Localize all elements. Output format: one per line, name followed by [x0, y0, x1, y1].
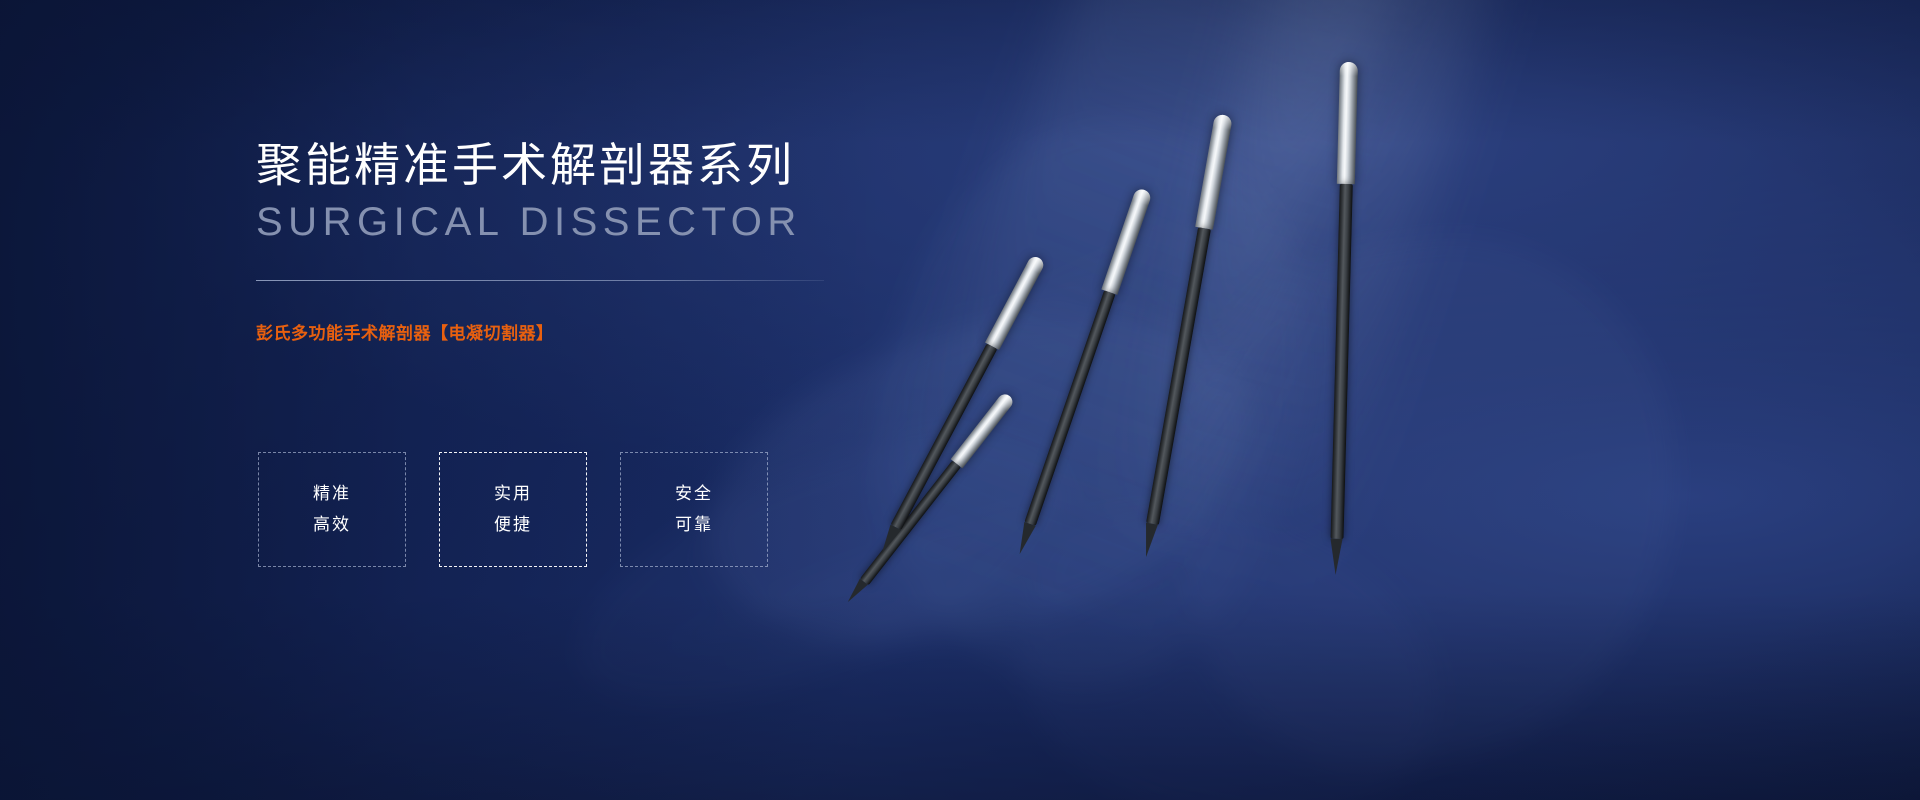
- vignette-overlay: [0, 0, 1920, 800]
- feature-badge-2: 实用便捷: [439, 452, 587, 567]
- feature-badge-1: 精准高效: [258, 452, 406, 567]
- feature-badge-line1: 实用: [494, 484, 532, 504]
- feature-badge-line2: 便捷: [494, 515, 532, 535]
- page-subtitle-english: SURGICAL DISSECTOR: [256, 200, 876, 245]
- feature-badge-line2: 高效: [313, 515, 351, 535]
- hero-copy-block: 聚能精准手术解剖器系列 SURGICAL DISSECTOR 彭氏多功能手术解剖…: [256, 140, 876, 345]
- product-hero-banner: 聚能精准手术解剖器系列 SURGICAL DISSECTOR 彭氏多功能手术解剖…: [0, 0, 1920, 800]
- page-title: 聚能精准手术解剖器系列: [256, 140, 876, 192]
- feature-badge-group: 精准高效实用便捷安全可靠: [258, 452, 768, 567]
- product-name-highlight: 彭氏多功能手术解剖器【电凝切割器】: [256, 323, 876, 345]
- feature-badge-line2: 可靠: [675, 515, 713, 535]
- feature-badge-line1: 安全: [675, 484, 713, 504]
- feature-badge-3: 安全可靠: [620, 452, 768, 567]
- divider: [256, 280, 824, 281]
- feature-badge-line1: 精准: [313, 484, 351, 504]
